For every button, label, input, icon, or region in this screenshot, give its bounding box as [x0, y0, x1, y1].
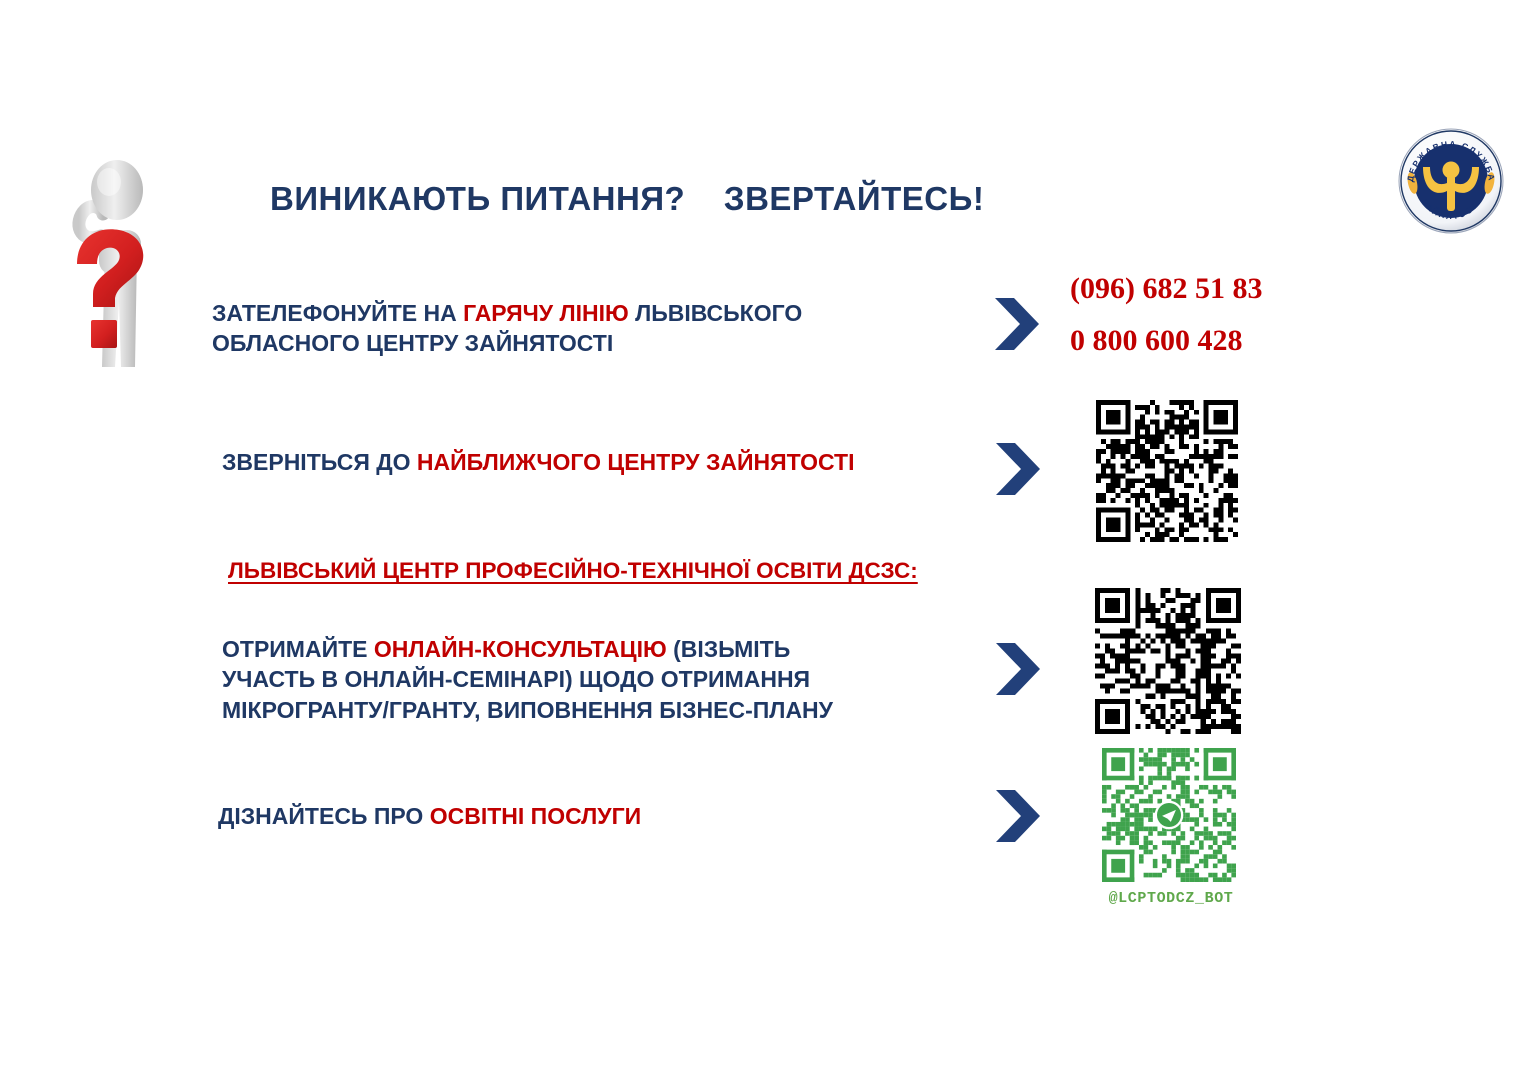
chevron-right-icon [993, 787, 1049, 845]
chevron-right-icon [993, 440, 1049, 498]
row-online-consultation-text: ОТРИМАЙТЕ ОНЛАЙН-КОНСУЛЬТАЦІЮ (ВІЗЬМІТЬУ… [222, 634, 902, 725]
plain-text: ДІЗНАЙТЕСЬ ПРО [218, 803, 430, 829]
plain-text: МІКРОГРАНТУ/ГРАНТУ, ВИПОВНЕННЯ БІЗНЕС-ПЛ… [222, 697, 833, 723]
plain-text: (ВІЗЬМІТЬ [667, 636, 791, 662]
row-hotline-text: ЗАТЕЛЕФОНУЙТЕ НА ГАРЯЧУ ЛІНІЮ ЛЬВІВСЬКОГ… [212, 298, 872, 359]
plain-text: ЗВЕРНІТЬСЯ ДО [222, 449, 417, 475]
plain-text: ОТРИМАЙТЕ [222, 636, 374, 662]
qr-telegram-bot[interactable] [1096, 748, 1242, 882]
section-heading-lviv-vocational-center: ЛЬВІВСЬКИЙ ЦЕНТР ПРОФЕСІЙНО-ТЕХНІЧНОЇ ОС… [228, 556, 988, 586]
hotline-phone-numbers: (096) 682 51 83 0 800 600 428 [1070, 274, 1370, 378]
phone-number-tollfree: 0 800 600 428 [1070, 326, 1370, 356]
row-educational-services-text: ДІЗНАЙТЕСЬ ПРО ОСВІТНІ ПОСЛУГИ [218, 801, 838, 831]
plain-text: ЛЬВІВСЬКОГО [629, 300, 803, 326]
telegram-icon [1157, 803, 1181, 827]
plain-text: ЗАТЕЛЕФОНУЙТЕ НА [212, 300, 463, 326]
slide-canvas: ВИНИКАЮТЬ ПИТАННЯ? ЗВЕРТАЙТЕСЬ! [0, 0, 1528, 1080]
qr-nearest-center[interactable] [1096, 400, 1238, 542]
highlight-text: ГАРЯЧУ ЛІНІЮ [463, 300, 629, 326]
thinking-person-with-question-mark [45, 152, 195, 387]
page-title: ВИНИКАЮТЬ ПИТАННЯ? ЗВЕРТАЙТЕСЬ! [270, 180, 984, 218]
chevron-right-icon [992, 295, 1048, 353]
phone-number-mobile: (096) 682 51 83 [1070, 274, 1370, 304]
highlight-text: ОСВІТНІ ПОСЛУГИ [430, 803, 641, 829]
plain-text: ОБЛАСНОГО ЦЕНТРУ ЗАЙНЯТОСТІ [212, 330, 613, 356]
highlight-text: НАЙБЛИЖЧОГО ЦЕНТРУ ЗАЙНЯТОСТІ [417, 449, 855, 475]
plain-text: УЧАСТЬ В ОНЛАЙН-СЕМІНАРІ) ЩОДО ОТРИМАННЯ [222, 666, 810, 692]
telegram-bot-handle: @LCPTODCZ_BOT [1086, 890, 1256, 907]
qr-online-consultation[interactable] [1095, 588, 1241, 734]
row-nearest-center-text: ЗВЕРНІТЬСЯ ДО НАЙБЛИЖЧОГО ЦЕНТРУ ЗАЙНЯТО… [222, 447, 922, 477]
state-employment-service-logo: ДЕРЖАВНА СЛУЖБА ЗАЙНЯТОСТІ [1397, 127, 1505, 235]
chevron-right-icon [993, 640, 1049, 698]
highlight-text: ОНЛАЙН-КОНСУЛЬТАЦІЮ [374, 636, 667, 662]
